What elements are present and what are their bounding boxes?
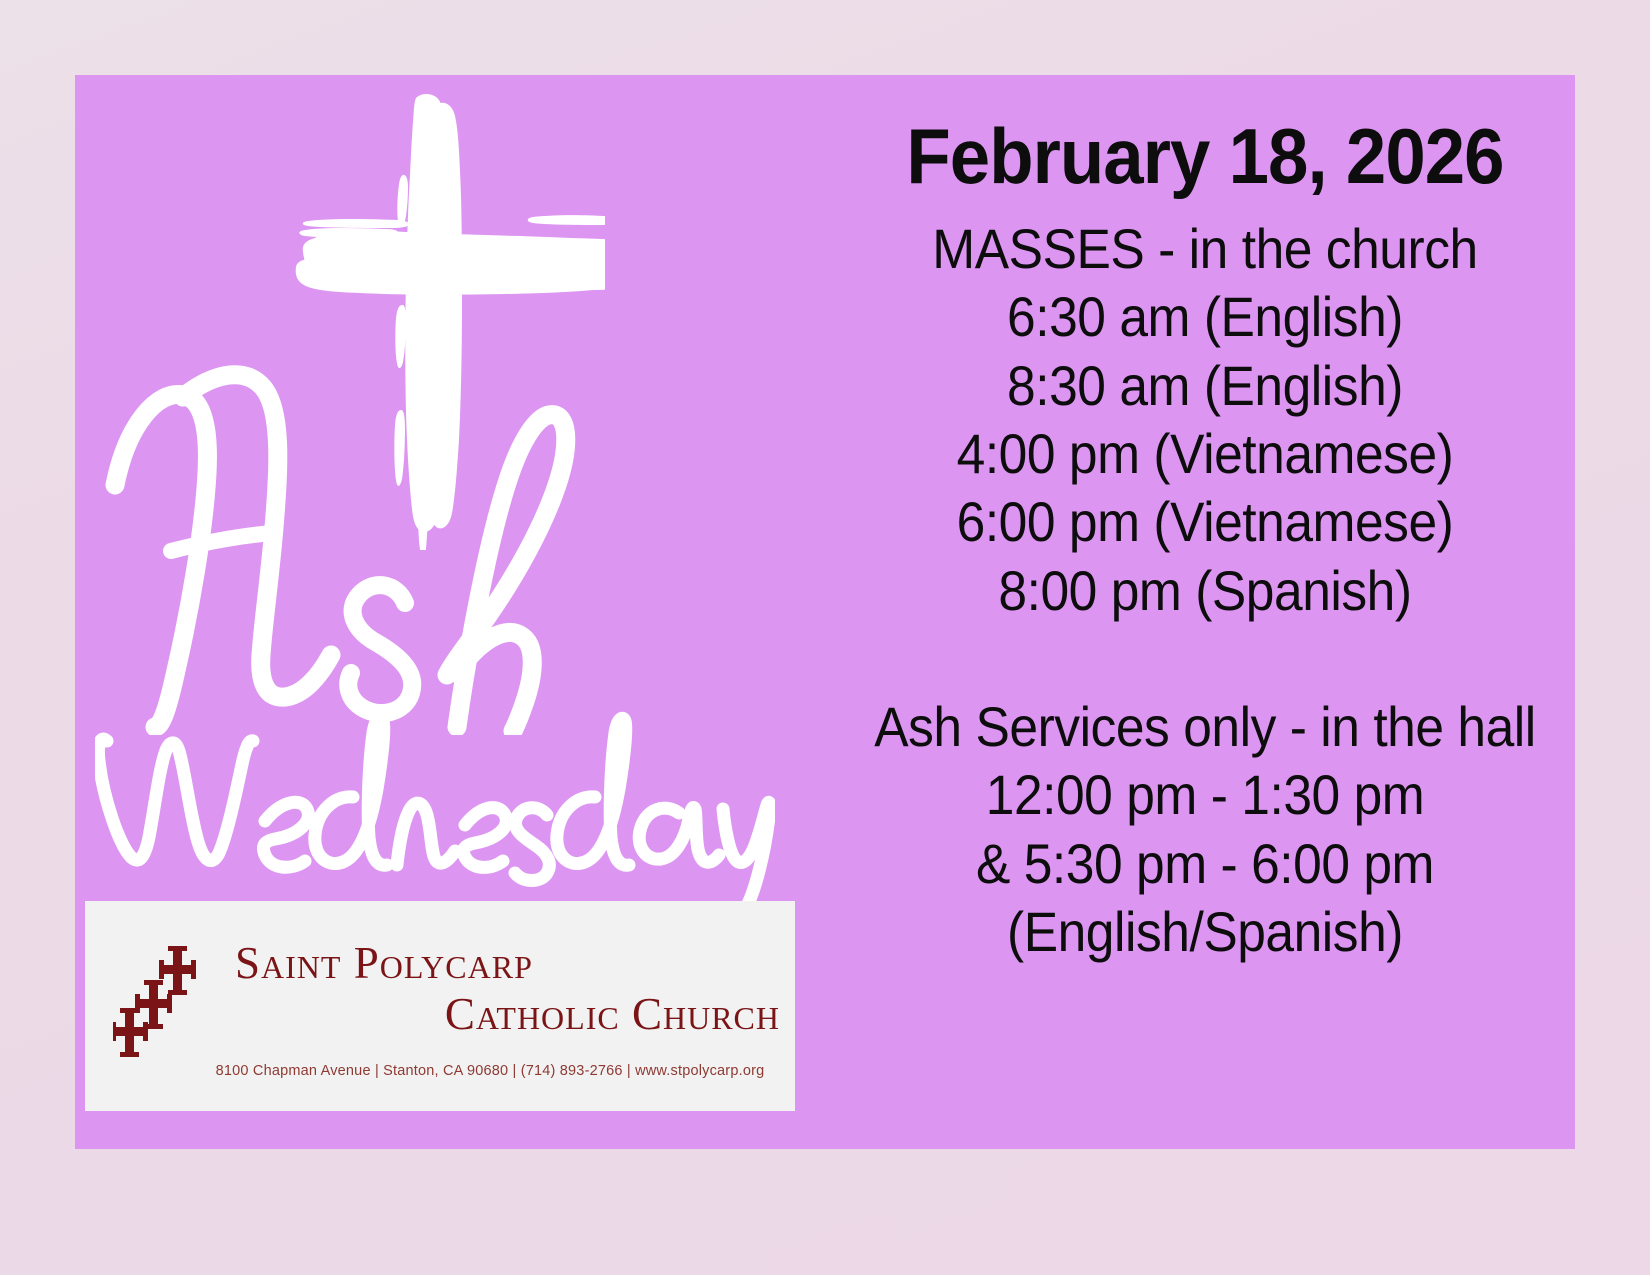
three-crosses-icon <box>113 939 233 1059</box>
church-address: 8100 Chapman Avenue | Stanton, CA 90680 … <box>195 1063 785 1079</box>
poster-panel: Saint Polycarp Catholic Church 8100 Chap… <box>75 75 1575 1149</box>
poster-canvas: Saint Polycarp Catholic Church 8100 Chap… <box>0 0 1650 1275</box>
ash-services-section: Ash Services only - in the hall 12:00 pm… <box>835 693 1575 966</box>
masses-heading: MASSES - in the church <box>865 215 1546 283</box>
event-date-headline: February 18, 2026 <box>861 117 1549 195</box>
left-column: Saint Polycarp Catholic Church 8100 Chap… <box>75 75 835 1149</box>
mass-time: 8:00 pm (Spanish) <box>865 557 1546 625</box>
mass-time: 6:30 am (English) <box>865 283 1546 351</box>
ash-service-time: 12:00 pm - 1:30 pm <box>865 761 1546 829</box>
script-word-ash <box>105 355 765 735</box>
ash-service-time: & 5:30 pm - 6:00 pm <box>865 830 1546 898</box>
ash-services-heading: Ash Services only - in the hall <box>865 693 1546 761</box>
church-name: Saint Polycarp Catholic Church <box>235 941 780 1037</box>
mass-time: 4:00 pm (Vietnamese) <box>865 420 1546 488</box>
mass-time: 8:30 am (English) <box>865 352 1546 420</box>
church-name-line-1: Saint Polycarp <box>235 941 780 986</box>
church-name-line-2: Catholic Church <box>235 992 780 1037</box>
ash-service-languages: (English/Spanish) <box>865 898 1546 966</box>
mass-time: 6:00 pm (Vietnamese) <box>865 488 1546 556</box>
right-column: February 18, 2026 MASSES - in the church… <box>835 75 1575 1149</box>
church-logo-box: Saint Polycarp Catholic Church 8100 Chap… <box>85 901 795 1111</box>
masses-section: MASSES - in the church 6:30 am (English)… <box>835 215 1575 625</box>
